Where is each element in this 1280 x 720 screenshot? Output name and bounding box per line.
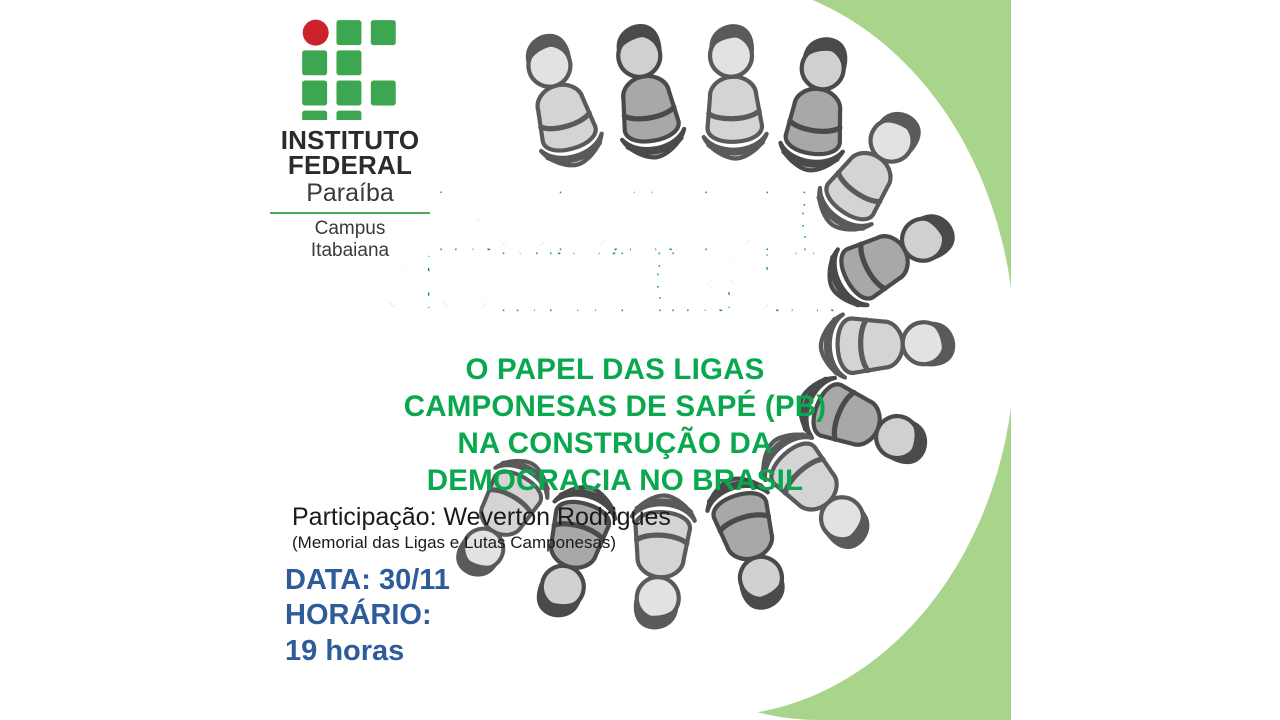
event-subject-line3: NA CONSTRUÇÃO DA bbox=[330, 426, 900, 463]
event-subject: O PAPEL DAS LIGAS CAMPONESAS DE SAPÉ (PB… bbox=[330, 352, 900, 500]
logo-institution-line2: FEDERAL bbox=[262, 153, 438, 178]
participation-affiliation: (Memorial das Ligas e Lutas Camponesas) bbox=[292, 534, 616, 553]
participation-line: Participação: Weverton Rodrigues bbox=[292, 504, 671, 532]
event-time-value: 19 horas bbox=[285, 634, 450, 669]
ifpb-logo-mark bbox=[298, 16, 402, 120]
event-datetime: DATA: 30/11 HORÁRIO: 19 horas bbox=[285, 563, 450, 669]
event-title-line2: CONVERSA bbox=[370, 251, 846, 317]
event-date: DATA: 30/11 bbox=[285, 563, 450, 598]
event-subject-line4: DEMOCRACIA NO BRASIL bbox=[330, 463, 900, 500]
event-title: RODA DE CONVERSA bbox=[376, 190, 846, 312]
event-subject-line2: CAMPONESAS DE SAPÉ (PB) bbox=[330, 389, 900, 426]
poster-canvas: INSTITUTO FEDERAL Paraíba Campus Itabaia… bbox=[0, 0, 1280, 720]
event-time-label: HORÁRIO: bbox=[285, 598, 450, 633]
event-subject-line1: O PAPEL DAS LIGAS bbox=[330, 352, 900, 389]
